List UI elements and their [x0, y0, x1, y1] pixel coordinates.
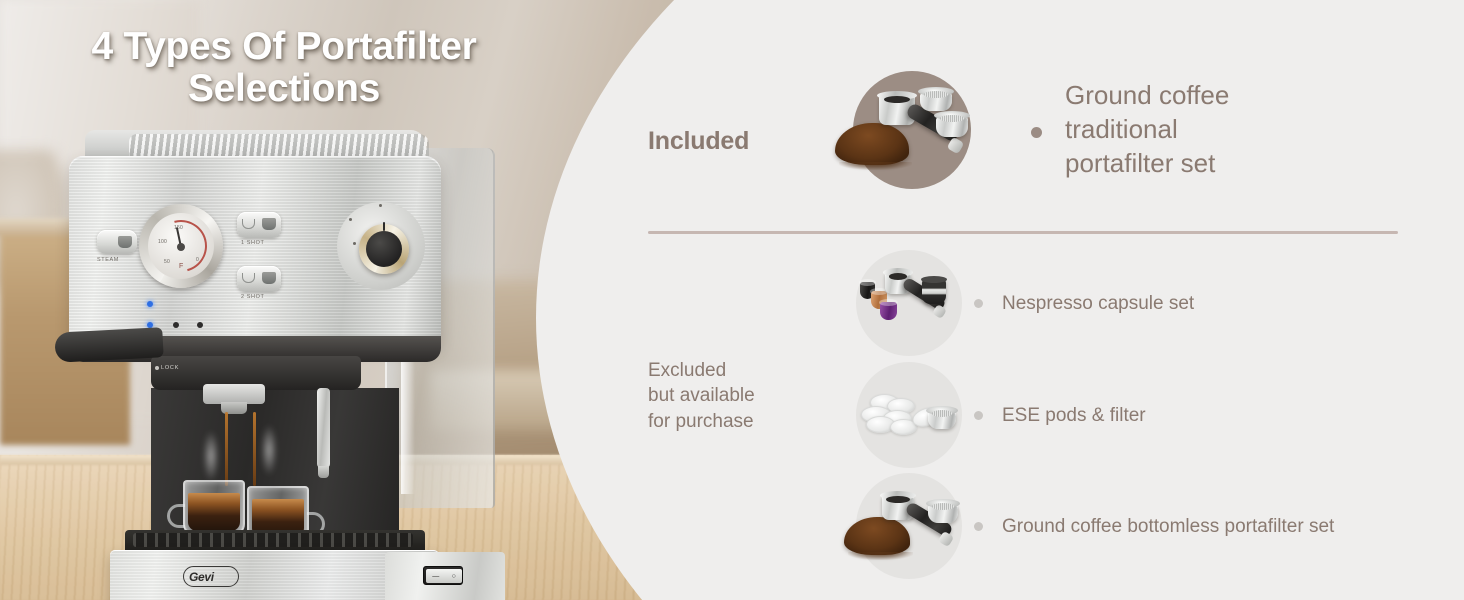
basket-mesh-double	[940, 115, 963, 122]
bottomless-portafilter-set-icon	[856, 473, 962, 579]
group-divider	[648, 231, 1398, 234]
filter-basket-double	[936, 115, 968, 137]
capsule-portafilter-cavity	[889, 273, 908, 280]
capsule-black-top	[859, 279, 876, 286]
coffee-grounds-pile	[835, 123, 909, 165]
bottomless-coffee-grounds-pile	[844, 517, 910, 555]
bullet-bottomless	[974, 522, 983, 531]
item-label-traditional-portafilter: Ground coffee traditional portafilter se…	[1065, 79, 1395, 180]
bullet-ese-pods	[974, 411, 983, 420]
group-label-included: Included	[648, 127, 828, 156]
capsule-adapter	[922, 279, 946, 304]
capsule-purple-top	[879, 299, 898, 306]
filter-basket-single	[920, 91, 952, 111]
traditional-portafilter-art	[853, 71, 971, 189]
nespresso-capsule-art	[856, 250, 962, 356]
ese-filter-mesh	[932, 410, 952, 417]
bottomless-portafilter-cavity	[886, 496, 909, 503]
panel-content: Included Ground co	[0, 0, 1464, 600]
bullet-nespresso	[974, 299, 983, 308]
item-label-bottomless-portafilter: Ground coffee bottomless portafilter set	[1002, 515, 1334, 540]
basket-mesh-single	[924, 91, 947, 98]
ese-pods-filter-icon	[856, 362, 962, 468]
group-label-excluded: Excluded but available for purchase	[648, 358, 838, 434]
item-label-nespresso-capsule-set: Nespresso capsule set	[1002, 292, 1194, 317]
ese-filter-basket	[928, 410, 956, 429]
item-label-ese-pods-filter: ESE pods & filter	[1002, 404, 1146, 429]
ese-pods-art	[856, 362, 962, 468]
bottomless-basket-mesh	[932, 503, 954, 510]
nespresso-capsule-set-icon	[856, 250, 962, 356]
traditional-portafilter-set-icon	[853, 71, 971, 189]
capsule-purple	[880, 302, 897, 320]
portafilter-cavity	[884, 96, 910, 103]
bottomless-filter-basket	[928, 503, 958, 523]
bottomless-portafilter-art	[856, 473, 962, 579]
bullet-included	[1031, 127, 1042, 138]
capsule-adapter-top	[921, 276, 947, 283]
infographic-banner: 150 100 50 0 F STEAM	[0, 0, 1464, 600]
